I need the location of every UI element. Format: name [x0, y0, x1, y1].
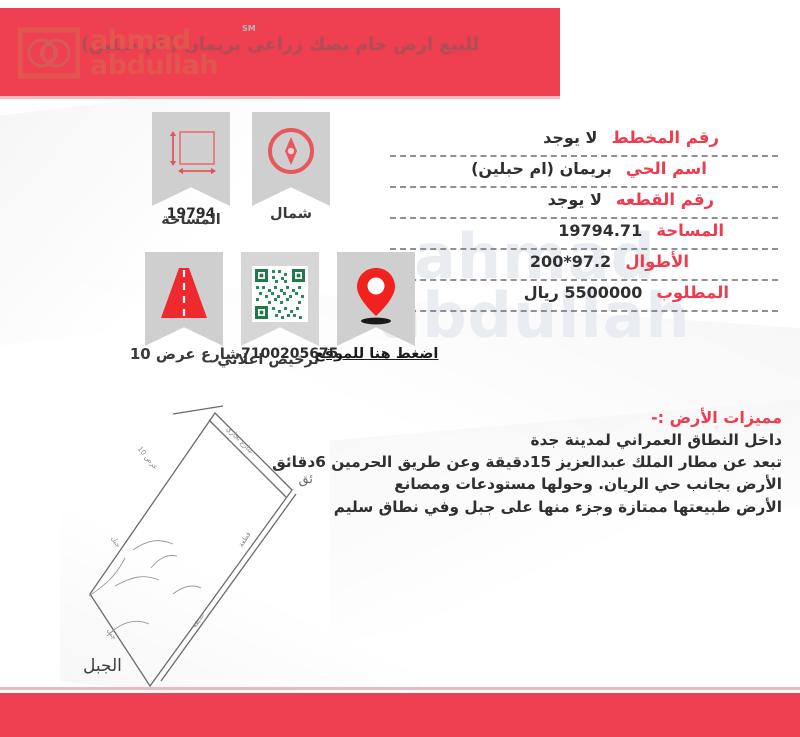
- badge-license-label: 7100205675 ترخيص اعلاني: [241, 347, 319, 377]
- table-row: رقم القطعه لا يوجد: [384, 188, 784, 217]
- badge-area-text: المساحة: [152, 213, 230, 228]
- page-header: للبيع ارض خام بصك زراعي بريمان ( ام حبلي…: [0, 0, 800, 103]
- badge-row-secondary: اضغط هنا للموقع: [145, 252, 415, 377]
- area-dimensions-icon: [162, 124, 220, 182]
- land-features-section: مميزات الأرض :- داخل النطاق العمراني لمد…: [362, 408, 782, 518]
- badge-street-width[interactable]: شارع عرض 10: [145, 252, 223, 377]
- brand-logo-text: ahmad abdullah SM: [90, 28, 218, 79]
- row-label-parcel-number: رقم القطعه: [616, 190, 714, 209]
- feature-line: تبعد عن مطار الملك عبدالعزيز 15دقيقة وعن…: [362, 451, 782, 473]
- trademark-mark: SM: [242, 25, 256, 33]
- table-row: الأطوال 97.2*200: [384, 250, 784, 279]
- sketch-mountain-label: الجبل: [83, 656, 122, 676]
- svg-text:ئق: ئق: [299, 472, 313, 487]
- plot-outline-drawing: شارع تجاري عرض 10 قطعة حديقة جبل جبل ئق: [55, 398, 365, 698]
- svg-text:جبل: جبل: [109, 535, 122, 549]
- interlocking-rings-logo-icon: [18, 27, 80, 79]
- badge-location[interactable]: اضغط هنا للموقع: [337, 252, 415, 377]
- row-divider: [390, 310, 778, 312]
- row-value-dimensions: 97.2*200: [530, 252, 611, 271]
- table-row: المساحة 19794.71: [384, 219, 784, 248]
- svg-text:جبل: جبل: [105, 627, 118, 641]
- row-value-plan-number: لا يوجد: [543, 128, 597, 147]
- features-body: داخل النطاق العمراني لمدينة جدة تبعد عن …: [362, 429, 782, 518]
- land-plot-sketch: شارع تجاري عرض 10 قطعة حديقة جبل جبل ئق …: [55, 398, 365, 698]
- qr-code-icon: [250, 264, 310, 326]
- brand-logo[interactable]: ahmad abdullah SM: [18, 18, 240, 88]
- badge-direction-label: شمال: [252, 207, 330, 222]
- row-value-district: بريمان (ام حبلين): [471, 159, 612, 178]
- table-row: المطلوب 5500000 ريال: [384, 281, 784, 310]
- row-label-dimensions: الأطوال: [625, 252, 689, 271]
- row-label-district: اسم الحي: [626, 159, 707, 178]
- banner-underline: [0, 96, 560, 99]
- license-text: ترخيص اعلاني: [241, 353, 319, 368]
- row-value-area: 19794.71: [558, 221, 642, 240]
- feature-line: الأرض بجانب حي الريان. وحولها مستودعات و…: [362, 473, 782, 495]
- listing-page: ahmad abdullah للبيع ارض خام بصك زراعي ب…: [0, 0, 800, 737]
- ribbon-shape: [152, 112, 230, 206]
- ribbon-shape: [252, 112, 330, 206]
- ribbon-shape: [241, 252, 319, 346]
- compass-icon: [264, 124, 318, 178]
- row-value-parcel-number: لا يوجد: [548, 190, 602, 209]
- row-divider: [390, 217, 778, 219]
- row-label-plan-number: رقم المخطط: [611, 128, 719, 147]
- row-value-price: 5500000 ريال: [524, 283, 643, 302]
- badge-area[interactable]: 19794 المساحة: [152, 112, 230, 237]
- ribbon-shape: [337, 252, 415, 346]
- badge-license[interactable]: 7100205675 ترخيص اعلاني: [241, 252, 319, 377]
- page-footer: [0, 693, 800, 737]
- svg-text:عرض 10: عرض 10: [136, 445, 160, 471]
- feature-line: الأرض طبيعتها ممتازة وجزء منها على جبل و…: [362, 496, 782, 518]
- svg-text:قطعة: قطعة: [237, 531, 253, 549]
- ribbon-shape: [145, 252, 223, 346]
- feature-line: داخل النطاق العمراني لمدينة جدة: [362, 429, 782, 451]
- badge-area-label: 19794 المساحة: [152, 207, 230, 237]
- features-title: مميزات الأرض :-: [362, 408, 782, 427]
- badge-direction[interactable]: شمال: [252, 112, 330, 237]
- logo-line-2: abdullah: [90, 53, 218, 78]
- row-divider: [390, 248, 778, 250]
- badge-row-primary: شمال 19794 المساحة: [152, 112, 330, 237]
- row-label-price: المطلوب: [656, 283, 729, 302]
- road-icon: [155, 264, 213, 326]
- badge-street-label: شارع عرض 10: [125, 347, 245, 362]
- row-label-area: المساحة: [656, 221, 724, 240]
- property-details-table: رقم المخطط لا يوجد اسم الحي بريمان (ام ح…: [384, 126, 784, 312]
- row-divider: [390, 186, 778, 188]
- footer-divider: [0, 687, 800, 690]
- table-row: رقم المخطط لا يوجد: [384, 126, 784, 155]
- row-divider: [390, 155, 778, 157]
- table-row: اسم الحي بريمان (ام حبلين): [384, 157, 784, 186]
- row-divider: [390, 279, 778, 281]
- location-pin-icon: [348, 264, 404, 326]
